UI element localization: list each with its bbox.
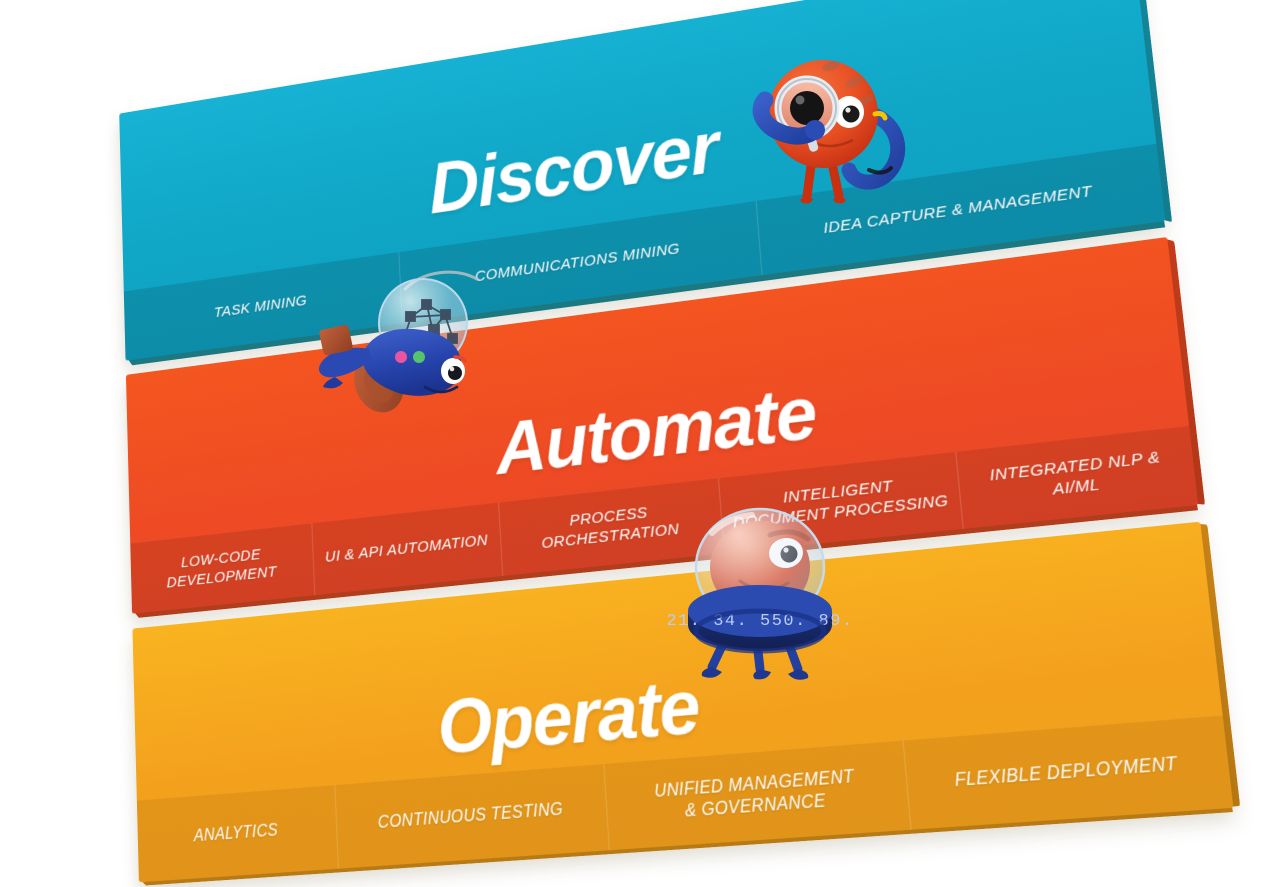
heading-operate: Operate xyxy=(436,668,702,766)
capability-integrated-nlp-ai-ml[interactable]: INTEGRATED NLP & AI/ML xyxy=(956,426,1198,529)
platform-deck: Discover TASK MINING COMMUNICATIONS MINI… xyxy=(119,0,1232,874)
capability-intelligent-document-processing[interactable]: INTELLIGENT DOCUMENT PROCESSING xyxy=(719,452,964,554)
heading-discover: Discover xyxy=(427,110,720,225)
capability-analytics[interactable]: ANALYTICS xyxy=(137,785,339,882)
heading-automate: Automate xyxy=(494,375,818,486)
diagram-canvas: Discover TASK MINING COMMUNICATIONS MINI… xyxy=(0,0,1288,870)
